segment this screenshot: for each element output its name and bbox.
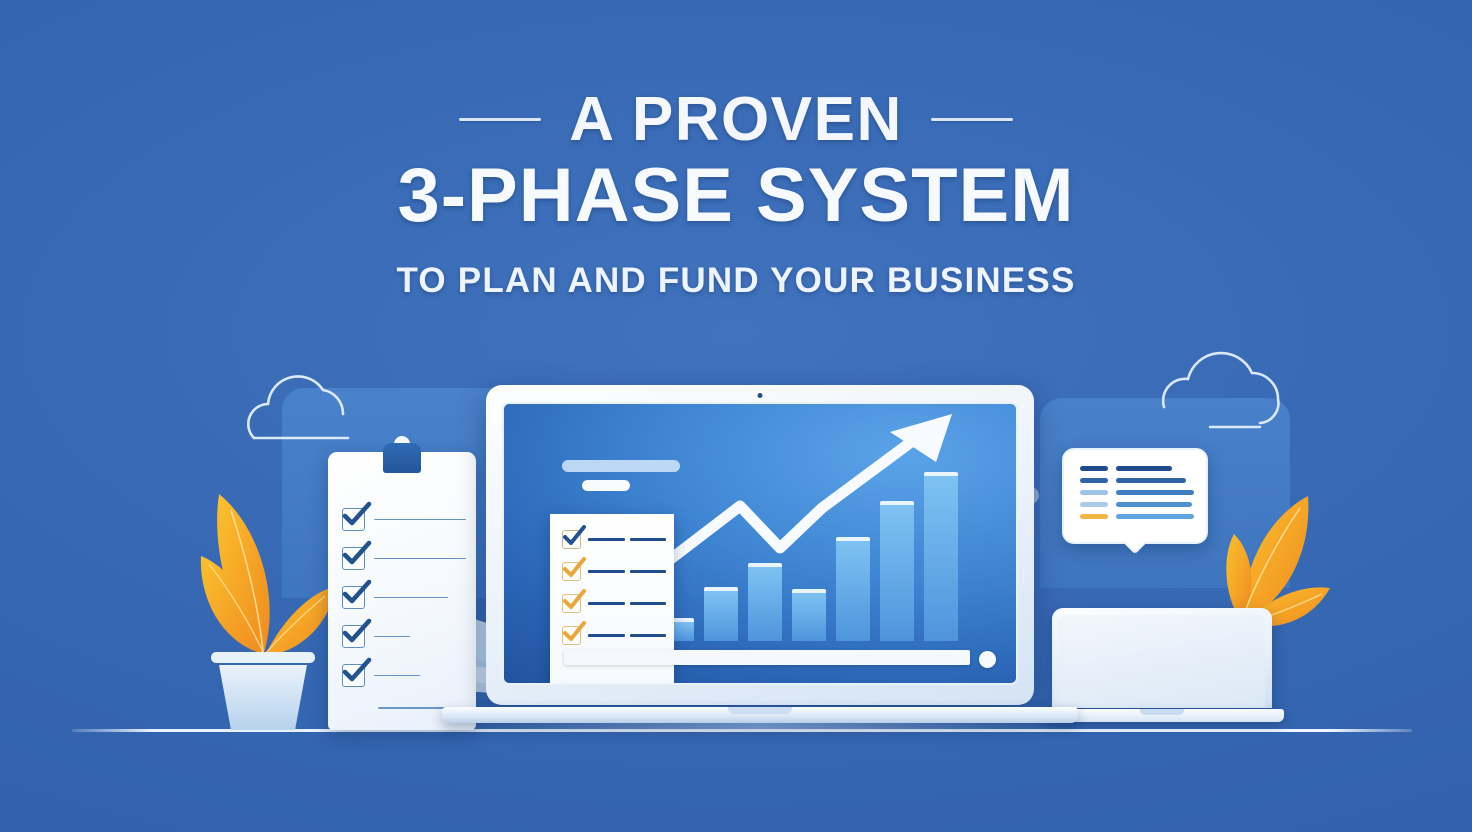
poster-canvas: A PROVEN 3-PHASE SYSTEM TO PLAN AND FUND… [0, 0, 1472, 832]
bubble-rows [1080, 466, 1194, 526]
clipboard-rows [342, 508, 466, 703]
row-key-bar [1080, 466, 1108, 471]
list-item[interactable] [342, 625, 466, 648]
list-item [1080, 490, 1194, 495]
dash-left-decoration [459, 118, 541, 121]
progress-handle[interactable] [979, 651, 996, 668]
list-item-line [374, 597, 448, 599]
progress-bar[interactable] [564, 650, 970, 665]
webcam-icon [758, 393, 763, 398]
row-value-bar [1116, 466, 1172, 471]
laptop-screen[interactable] [502, 402, 1018, 685]
checkbox-checked-icon[interactable] [342, 625, 365, 648]
list-item[interactable] [342, 547, 466, 570]
list-item-line [374, 675, 420, 677]
dash-right-decoration [931, 118, 1013, 121]
list-item [1080, 466, 1194, 471]
checkbox-checked-icon[interactable] [342, 508, 365, 531]
list-item-line [374, 519, 466, 521]
headline-block: A PROVEN 3-PHASE SYSTEM TO PLAN AND FUND… [0, 88, 1472, 301]
laptop-base-shadow [456, 723, 1064, 729]
growth-trend-arrow-icon [644, 410, 976, 610]
list-item [1080, 502, 1194, 507]
list-item [1080, 478, 1194, 483]
row-key-bar [1080, 502, 1108, 507]
row-value-bar [1116, 478, 1186, 483]
row-value-bar [1116, 502, 1192, 507]
list-item[interactable] [342, 664, 466, 687]
stats-callout-bubble [1062, 448, 1208, 544]
checklist-clipboard [328, 452, 476, 730]
list-item[interactable] [562, 530, 666, 549]
page-subtitle: TO PLAN AND FUND YOUR BUSINESS [0, 261, 1472, 301]
list-item[interactable] [342, 586, 466, 609]
checkbox-checked-icon[interactable] [342, 664, 365, 687]
title-line-1-row: A PROVEN [0, 88, 1472, 151]
laptop-lid [486, 385, 1034, 705]
clipboard-clamp-icon [383, 443, 421, 473]
screen-header-pill-secondary [582, 480, 630, 491]
checkbox-checked-icon[interactable] [562, 562, 581, 581]
checkbox-checked-icon[interactable] [342, 547, 365, 570]
row-value-bar [1116, 490, 1194, 495]
list-item-line [374, 636, 410, 638]
row-key-bar [1080, 490, 1108, 495]
checkbox-checked-icon[interactable] [562, 594, 581, 613]
laptop-trackpad-notch [728, 707, 792, 714]
checkbox-checked-icon[interactable] [562, 530, 581, 549]
row-key-bar [1080, 478, 1108, 483]
row-value-bar [1116, 514, 1194, 519]
secondary-laptop-lid [1052, 608, 1272, 708]
list-item[interactable] [562, 626, 666, 645]
checkbox-checked-icon[interactable] [342, 586, 365, 609]
list-item-line [374, 558, 466, 560]
laptop-base [442, 707, 1078, 723]
potted-plant-left-icon [185, 470, 345, 732]
laptop-with-dashboard [486, 385, 1034, 705]
row-key-bar [1080, 514, 1108, 519]
list-item[interactable] [342, 508, 466, 531]
cloud-outline-right-icon [1162, 345, 1342, 460]
list-item[interactable] [562, 562, 666, 581]
list-item[interactable] [562, 594, 666, 613]
page-title-line-2: 3-PHASE SYSTEM [0, 157, 1472, 235]
list-item [1080, 514, 1194, 519]
secondary-laptop-screen[interactable] [1059, 615, 1265, 708]
secondary-laptop-trackpad-notch [1140, 709, 1184, 715]
checkbox-checked-icon[interactable] [562, 626, 581, 645]
page-title-line-1: A PROVEN [569, 88, 903, 151]
